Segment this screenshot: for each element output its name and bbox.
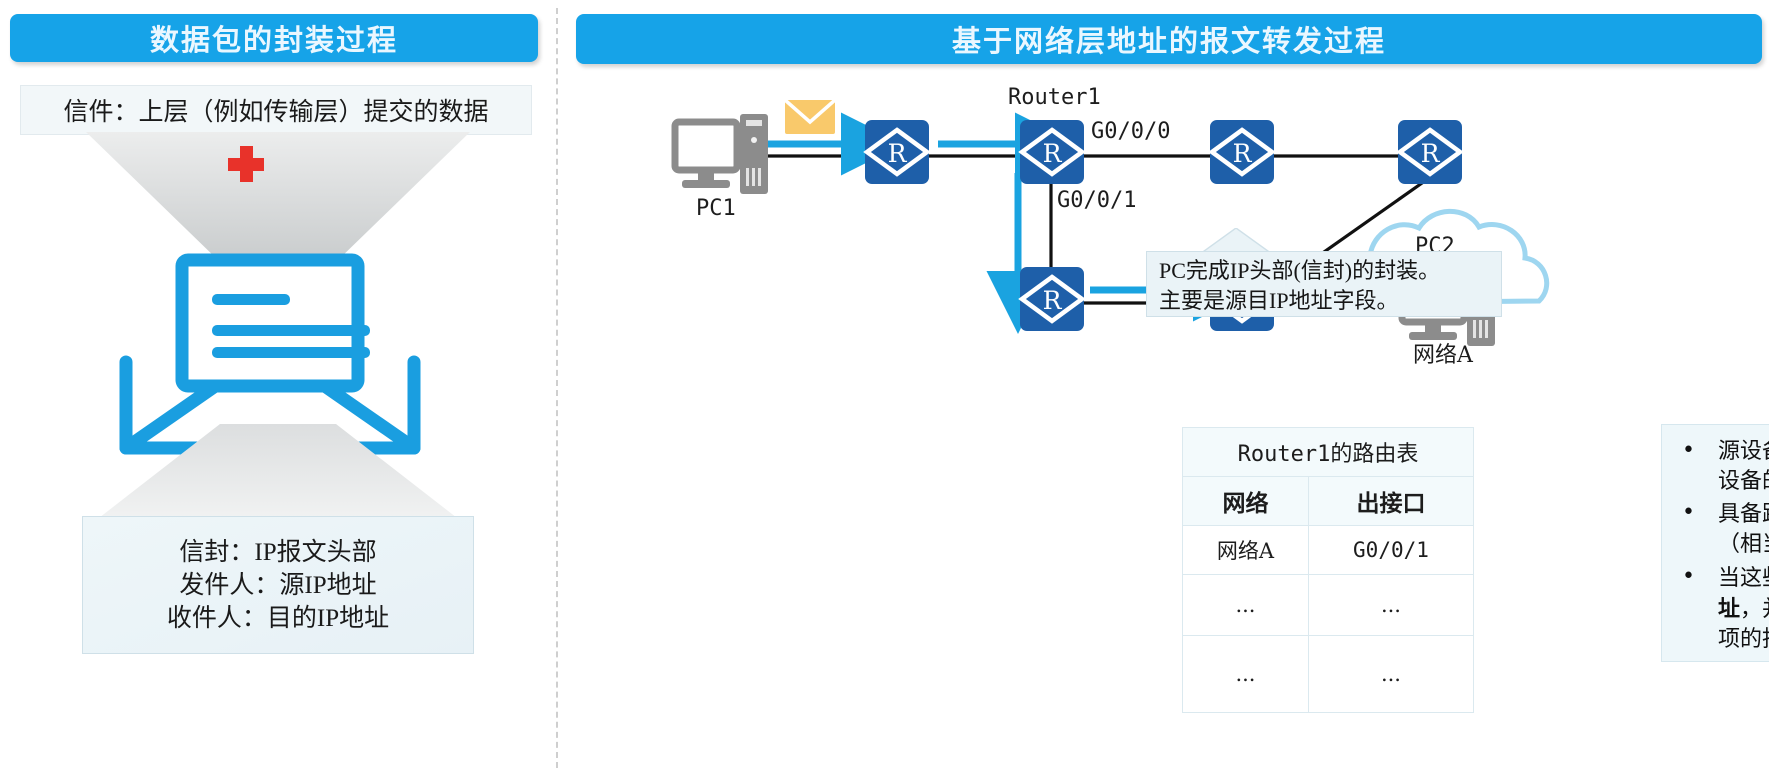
cell-interface-0: G0/0/1 (1308, 526, 1473, 575)
left-panel-title: 数据包的封装过程 (10, 14, 538, 62)
envelope-line-2: 发件人：源IP地址 (179, 569, 376, 602)
right-panel-title: 基于网络层地址的报文转发过程 (576, 14, 1762, 64)
router-icon-e: R (1020, 267, 1084, 331)
lower-funnel-shape (86, 424, 470, 528)
table-row: ... ... (1183, 575, 1474, 636)
cell-network-1: ... (1183, 575, 1309, 636)
explanation-box: 源设备发出的报文会在其网络层头部携带该报文的源及目的设备的网络层地址； 具备路由… (1661, 424, 1769, 662)
router-icon-a: R (865, 120, 929, 184)
router1-icon: R (1020, 120, 1084, 184)
pc1-icon (675, 114, 768, 194)
mail-icon-1 (785, 100, 835, 134)
router-icon-c: R (1210, 120, 1274, 184)
interface-g001-label: G0/0/1 (1057, 188, 1136, 213)
cell-interface-1: ... (1308, 575, 1473, 636)
forwarding-panel: 基于网络层地址的报文转发过程 (570, 0, 1769, 774)
upper-funnel-shape (86, 132, 470, 262)
table-caption-row: Router1的路由表 (1183, 428, 1474, 477)
cell-network-2: ... (1183, 636, 1309, 713)
pc1-callout-box: PC完成IP头部(信封)的封装。 主要是源目IP地址字段。 (1146, 251, 1502, 317)
column-header-interface: 出接口 (1308, 477, 1473, 526)
panel-divider (556, 8, 558, 768)
encapsulation-panel: 数据包的封装过程 信件：上层（例如传输层）提交的数据 (0, 0, 556, 774)
letter-description-box: 信件：上层（例如传输层）提交的数据 (20, 85, 532, 135)
svg-text:R: R (1043, 139, 1063, 168)
table-header-row: 网络 出接口 (1183, 477, 1474, 526)
router1-label: Router1 (1008, 85, 1101, 110)
envelope-line-3: 收件人：目的IP地址 (167, 602, 389, 635)
envelope-line-1: 信封：IP报文头部 (179, 536, 376, 569)
routing-table: Router1的路由表 网络 出接口 网络A G0/0/1 ... ... ..… (1182, 427, 1474, 713)
table-row: ... ... (1183, 636, 1474, 713)
cell-network-0: 网络A (1183, 526, 1309, 575)
pc1-callout-line-2: 主要是源目IP地址字段。 (1159, 286, 1501, 316)
explanation-list: 源设备发出的报文会在其网络层头部携带该报文的源及目的设备的网络层地址； 具备路由… (1672, 437, 1769, 655)
table-row: 网络A G0/0/1 (1183, 526, 1474, 575)
pc1-label: PC1 (696, 196, 736, 221)
list-item: 源设备发出的报文会在其网络层头部携带该报文的源及目的设备的网络层地址； (1672, 437, 1769, 497)
svg-text:R: R (888, 139, 908, 168)
svg-text:R: R (1421, 139, 1441, 168)
list-item: 当这些网络设备收到报文时，会读取其网络层携带的目的地址，并在其路由表中查询该地址… (1672, 563, 1769, 655)
column-header-network: 网络 (1183, 477, 1309, 526)
network-a-label: 网络A (1413, 337, 1473, 369)
interface-g000-label: G0/0/0 (1091, 119, 1170, 144)
red-cross-icon (228, 146, 264, 182)
cell-interface-2: ... (1308, 636, 1473, 713)
svg-text:R: R (1043, 286, 1063, 315)
envelope-description-box: 信封：IP报文头部 发件人：源IP地址 收件人：目的IP地址 (82, 516, 474, 654)
pc1-callout-line-1: PC完成IP头部(信封)的封装。 (1159, 256, 1501, 286)
svg-text:R: R (1233, 139, 1253, 168)
routing-table-caption: Router1的路由表 (1183, 428, 1474, 477)
list-item: 具备路由功能的网络设备（例如路由器等）会维护路由表（相当于它的地图）； (1672, 499, 1769, 560)
router-icon-d: R (1398, 120, 1462, 184)
